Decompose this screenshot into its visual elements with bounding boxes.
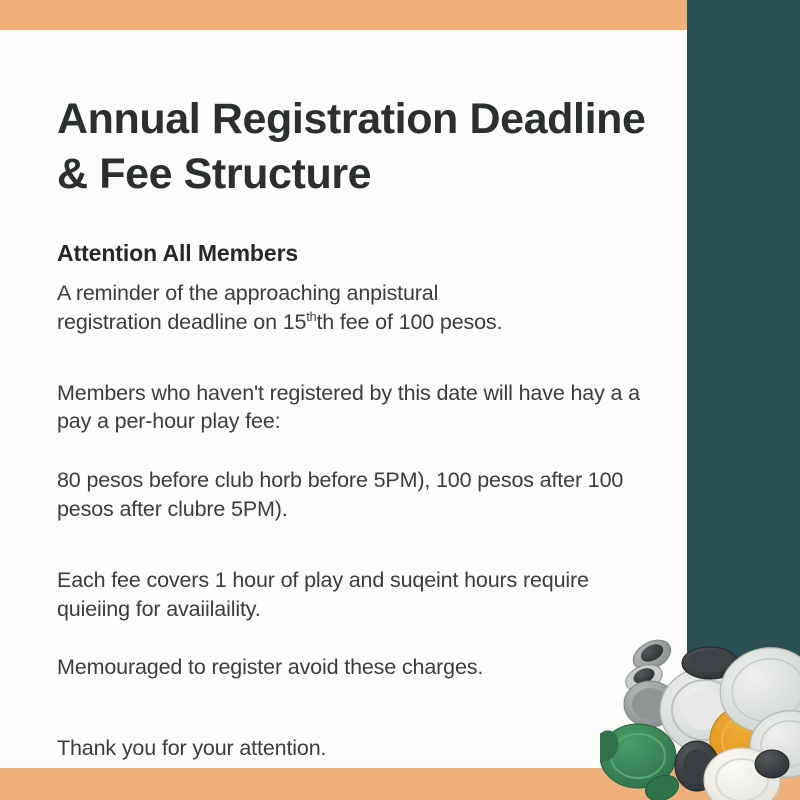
- reminder-line-1: A reminder of the approaching anpistural: [57, 281, 438, 305]
- ordinal-suffix: th: [306, 310, 316, 324]
- page-title: Annual Registration Deadline & Fee Struc…: [57, 92, 649, 202]
- attention-subheading: Attention All Members: [57, 240, 649, 267]
- paragraph-fee-rates: 80 pesos before club horb before 5PM), 1…: [57, 466, 649, 524]
- paragraph-closing: Thank you for your attention.: [57, 734, 649, 763]
- paragraph-reminder: A reminder of the approaching anpistural…: [57, 279, 649, 337]
- product-object-cluster: [600, 628, 800, 800]
- poster-content: Annual Registration Deadline & Fee Struc…: [57, 92, 649, 763]
- paragraph-hour-coverage: Each fee covers 1 hour of play and suqei…: [57, 566, 649, 624]
- white-collapsible-bowl: [704, 748, 789, 800]
- poster-canvas: Annual Registration Deadline & Fee Struc…: [0, 0, 800, 800]
- paragraph-per-hour-fee: Members who haven't registered by this d…: [57, 379, 649, 437]
- top-accent-strip: [0, 0, 687, 30]
- paragraph-encouragement: Memouraged to register avoid these charg…: [57, 653, 649, 682]
- reminder-line-2-after: th fee of 100 pesos.: [316, 310, 502, 334]
- reminder-line-2-before: registration deadline on 15: [57, 310, 306, 334]
